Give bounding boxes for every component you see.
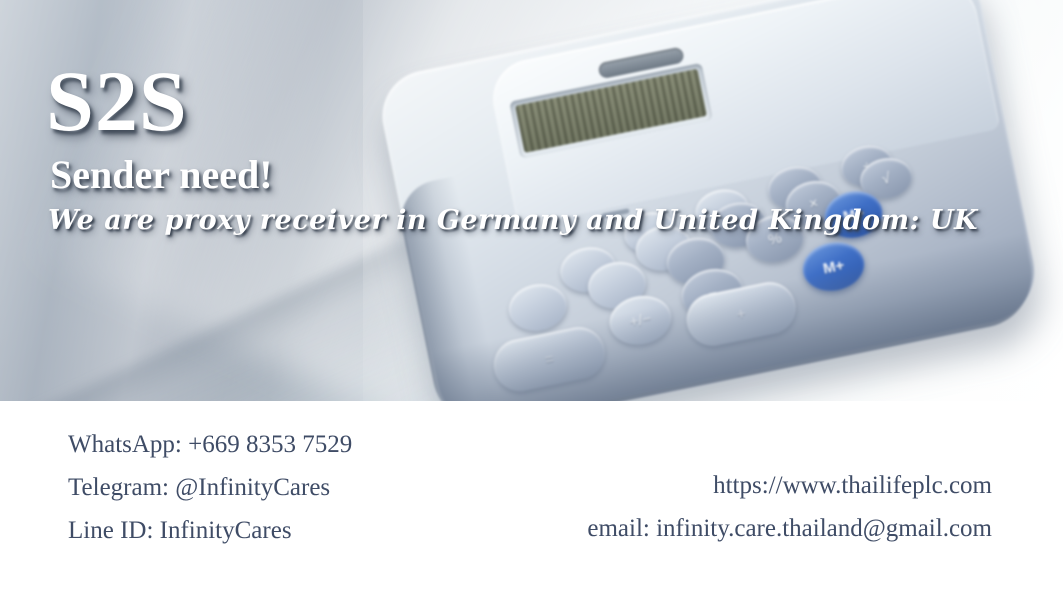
contact-line-id[interactable]: Line ID: InfinityCares [68,509,352,552]
contact-left-column: WhatsApp: +669 8353 7529 Telegram: @Infi… [68,423,352,552]
page-title: S2S [46,62,978,141]
hero-photo: ÷ × √ % M− = +/− − + M+ [0,0,1063,401]
hero-text-block: S2S Sender need! We are proxy receiver i… [46,62,978,236]
contact-right-column: https://www.thailifeplc.com email: infin… [587,464,992,550]
hero-subtitle: Sender need! [50,153,978,197]
contact-bar: WhatsApp: +669 8353 7529 Telegram: @Infi… [0,401,1063,600]
promo-banner: ÷ × √ % M− = +/− − + M+ [0,0,1063,600]
contact-email[interactable]: email: infinity.care.thailand@gmail.com [587,507,992,550]
contact-whatsapp[interactable]: WhatsApp: +669 8353 7529 [68,423,352,466]
hero-tagline: We are proxy receiver in Germany and Uni… [48,205,978,236]
contact-website-link[interactable]: https://www.thailifeplc.com [587,464,992,507]
contact-telegram[interactable]: Telegram: @InfinityCares [68,466,352,509]
